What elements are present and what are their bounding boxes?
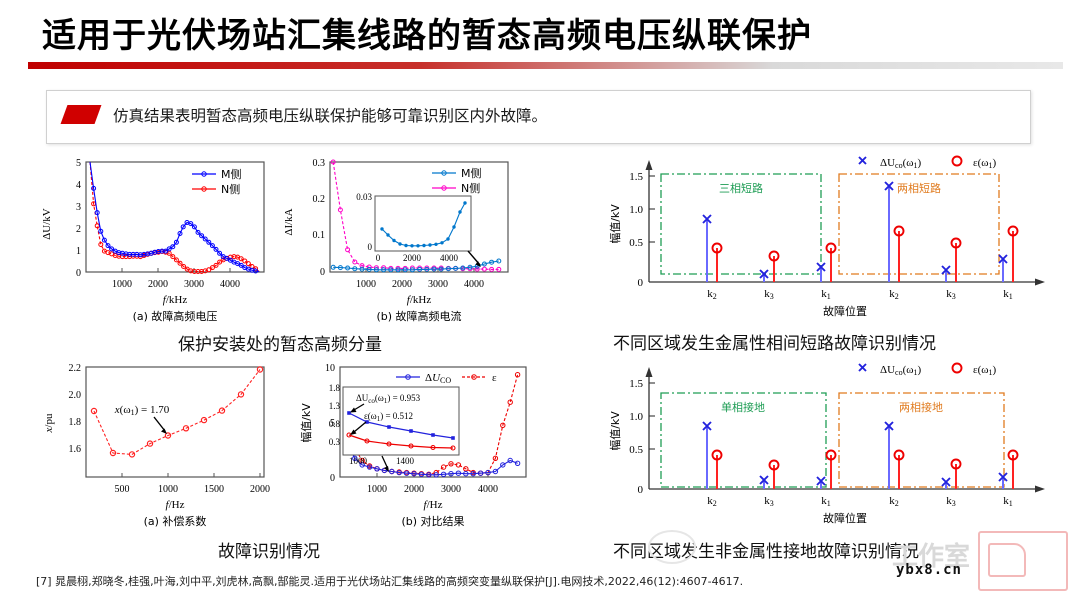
svg-text:ΔU/kV: ΔU/kV xyxy=(41,208,53,240)
svg-text:0.3: 0.3 xyxy=(313,158,326,169)
svg-text:4000: 4000 xyxy=(440,253,459,263)
chart-comparison-result: 1050 10002000 30004000 幅值/kV f/Hz (b) 对比… xyxy=(294,357,554,532)
svg-text:0.8: 0.8 xyxy=(329,419,341,429)
svg-text:4: 4 xyxy=(76,180,81,191)
svg-text:2000: 2000 xyxy=(403,253,422,263)
svg-text:幅值/kV: 幅值/kV xyxy=(609,411,622,451)
svg-text:0.5: 0.5 xyxy=(629,237,643,249)
svg-text:1.0: 1.0 xyxy=(629,204,643,216)
caption-left-top: 保护安装处的暂态高频分量 xyxy=(178,330,382,355)
svg-text:3: 3 xyxy=(76,202,81,213)
svg-text:0.1: 0.1 xyxy=(313,230,326,241)
svg-text:k1: k1 xyxy=(1003,495,1013,508)
svg-text:N侧: N侧 xyxy=(461,182,480,195)
slide-root: 适用于光伏场站汇集线路的暂态高频电压纵联保护 仿真结果表明暂态高频电压纵联保护能… xyxy=(0,0,1080,604)
svg-text:故障位置: 故障位置 xyxy=(823,304,867,318)
svg-text:(b) 对比结果: (b) 对比结果 xyxy=(401,514,464,528)
svg-text:k2: k2 xyxy=(889,288,899,301)
watermark-logo-icon xyxy=(978,531,1068,591)
chart-legend: ΔUco(ω1) ε(ω1) xyxy=(859,157,997,171)
svg-text:0.2: 0.2 xyxy=(313,194,326,205)
svg-text:1000: 1000 xyxy=(349,456,368,466)
svg-text:1.5: 1.5 xyxy=(629,378,643,390)
svg-text:ΔI/kA: ΔI/kA xyxy=(283,208,295,235)
svg-text:1000: 1000 xyxy=(112,279,132,290)
chart-metallic-phase-fault: 1.51.0 0.50 幅值/kV 三相短路 两相短路 xyxy=(605,152,1065,327)
svg-text:M侧: M侧 xyxy=(221,168,242,181)
svg-text:单相接地: 单相接地 xyxy=(721,401,765,414)
svg-text:0: 0 xyxy=(320,267,325,278)
footer-reference: [7] 晁晨栩,郑晓冬,桂强,叶海,刘中平,刘虎林,高飘,郜能灵.适用于光伏场站… xyxy=(36,573,743,589)
svg-text:k2: k2 xyxy=(707,495,717,508)
svg-text:ε: ε xyxy=(492,372,497,384)
svg-text:f/Hz: f/Hz xyxy=(166,499,185,511)
chart-nonmetallic-ground-fault: 1.51.0 0.50 幅值/kV 单相接地 两相接地 xyxy=(605,357,1065,535)
svg-text:4000: 4000 xyxy=(464,279,484,290)
svg-text:3000: 3000 xyxy=(184,279,204,290)
svg-text:2.0: 2.0 xyxy=(69,390,82,401)
svg-text:k2: k2 xyxy=(707,288,717,301)
svg-text:1400: 1400 xyxy=(396,456,415,466)
chart-fault-hf-voltage: 543 210 10002000 30004000 ΔU/kV f/kHz (a… xyxy=(34,152,284,327)
svg-text:1.8: 1.8 xyxy=(69,417,82,428)
svg-text:(b) 故障高频电流: (b) 故障高频电流 xyxy=(376,309,461,323)
chart-legend: ΔUco(ω1) ε(ω1) xyxy=(859,364,997,378)
svg-text:(a) 补偿系数: (a) 补偿系数 xyxy=(144,514,207,528)
svg-text:2: 2 xyxy=(76,224,81,235)
svg-text:2000: 2000 xyxy=(148,279,168,290)
svg-text:1.0: 1.0 xyxy=(629,411,643,423)
title-divider xyxy=(28,62,1063,69)
svg-text:0: 0 xyxy=(330,473,335,484)
svg-text:k3: k3 xyxy=(764,495,774,508)
svg-text:1000: 1000 xyxy=(367,484,387,495)
svg-text:k1: k1 xyxy=(1003,288,1013,301)
svg-text:10: 10 xyxy=(325,363,335,374)
svg-text:5: 5 xyxy=(76,158,81,169)
svg-text:3000: 3000 xyxy=(428,279,448,290)
svg-text:2000: 2000 xyxy=(404,484,424,495)
svg-text:N侧: N侧 xyxy=(221,183,240,196)
bullet-text: 仿真结果表明暂态高频电压纵联保护能够可靠识别区内外故障。 xyxy=(113,104,547,126)
svg-text:1.6: 1.6 xyxy=(69,444,82,455)
svg-text:1.8: 1.8 xyxy=(329,383,341,393)
svg-text:1500: 1500 xyxy=(204,484,224,495)
svg-text:1: 1 xyxy=(76,246,81,257)
svg-text:0.3: 0.3 xyxy=(329,437,341,447)
svg-text:M侧: M侧 xyxy=(461,167,482,180)
svg-text:故障位置: 故障位置 xyxy=(823,511,867,525)
svg-text:0: 0 xyxy=(376,253,381,263)
svg-text:f/kHz: f/kHz xyxy=(407,294,432,306)
svg-text:4000: 4000 xyxy=(478,484,498,495)
svg-text:k1: k1 xyxy=(821,495,831,508)
svg-text:2000: 2000 xyxy=(250,484,270,495)
caption-right-top: 不同区域发生金属性相间短路故障识别情况 xyxy=(613,329,936,354)
caption-right-bottom: 不同区域发生非金属性接地故障识别情况 xyxy=(613,537,919,562)
svg-text:ε(ω1): ε(ω1) xyxy=(973,364,997,377)
svg-text:4000: 4000 xyxy=(220,279,240,290)
svg-text:2000: 2000 xyxy=(392,279,412,290)
svg-text:1.5: 1.5 xyxy=(629,171,643,183)
svg-text:k2: k2 xyxy=(889,495,899,508)
svg-text:k3: k3 xyxy=(946,288,956,301)
svg-text:3000: 3000 xyxy=(441,484,461,495)
svg-text:0: 0 xyxy=(638,277,644,289)
svg-text:幅值/kV: 幅值/kV xyxy=(300,403,313,443)
svg-text:1000: 1000 xyxy=(158,484,178,495)
svg-text:两相短路: 两相短路 xyxy=(897,181,941,195)
svg-text:ΔUco(ω1): ΔUco(ω1) xyxy=(880,157,922,170)
svg-text:0: 0 xyxy=(638,484,644,496)
svg-text:幅值/kV: 幅值/kV xyxy=(609,204,622,244)
svg-text:f/Hz: f/Hz xyxy=(424,499,443,511)
svg-text:500: 500 xyxy=(115,484,130,495)
chart-compensation-coefficient: 2.22.0 1.81.6 5001000 15002000 x/pu f/Hz… xyxy=(34,357,284,532)
svg-text:k3: k3 xyxy=(764,288,774,301)
svg-text:0: 0 xyxy=(76,268,81,279)
svg-text:三相短路: 三相短路 xyxy=(719,181,763,195)
svg-text:k3: k3 xyxy=(946,495,956,508)
svg-text:ε(ω1): ε(ω1) xyxy=(973,157,997,170)
svg-text:f/kHz: f/kHz xyxy=(163,294,188,306)
caption-left-bottom: 故障识别情况 xyxy=(218,537,320,562)
svg-text:k1: k1 xyxy=(821,288,831,301)
watermark-url: ybx8.cn xyxy=(896,562,962,578)
svg-text:0.03: 0.03 xyxy=(356,192,372,202)
svg-text:ΔUco(ω1): ΔUco(ω1) xyxy=(880,364,922,377)
svg-text:0.5: 0.5 xyxy=(629,444,643,456)
svg-text:x(ω1) = 1.70: x(ω1) = 1.70 xyxy=(114,404,170,417)
svg-text:两相接地: 两相接地 xyxy=(899,401,943,414)
chart-fault-hf-current: 0.30.2 0.10 10002000 30004000 ΔI/kA f/kH… xyxy=(272,152,532,327)
svg-text:1.3: 1.3 xyxy=(329,401,341,411)
bullet-marker-icon xyxy=(61,105,102,124)
page-title: 适用于光伏场站汇集线路的暂态高频电压纵联保护 xyxy=(42,8,1032,57)
svg-text:(a) 故障高频电压: (a) 故障高频电压 xyxy=(133,309,218,323)
svg-text:0: 0 xyxy=(368,242,373,252)
svg-text:1000: 1000 xyxy=(356,279,376,290)
svg-text:2.2: 2.2 xyxy=(69,363,82,374)
svg-text:x/pu: x/pu xyxy=(43,413,55,433)
